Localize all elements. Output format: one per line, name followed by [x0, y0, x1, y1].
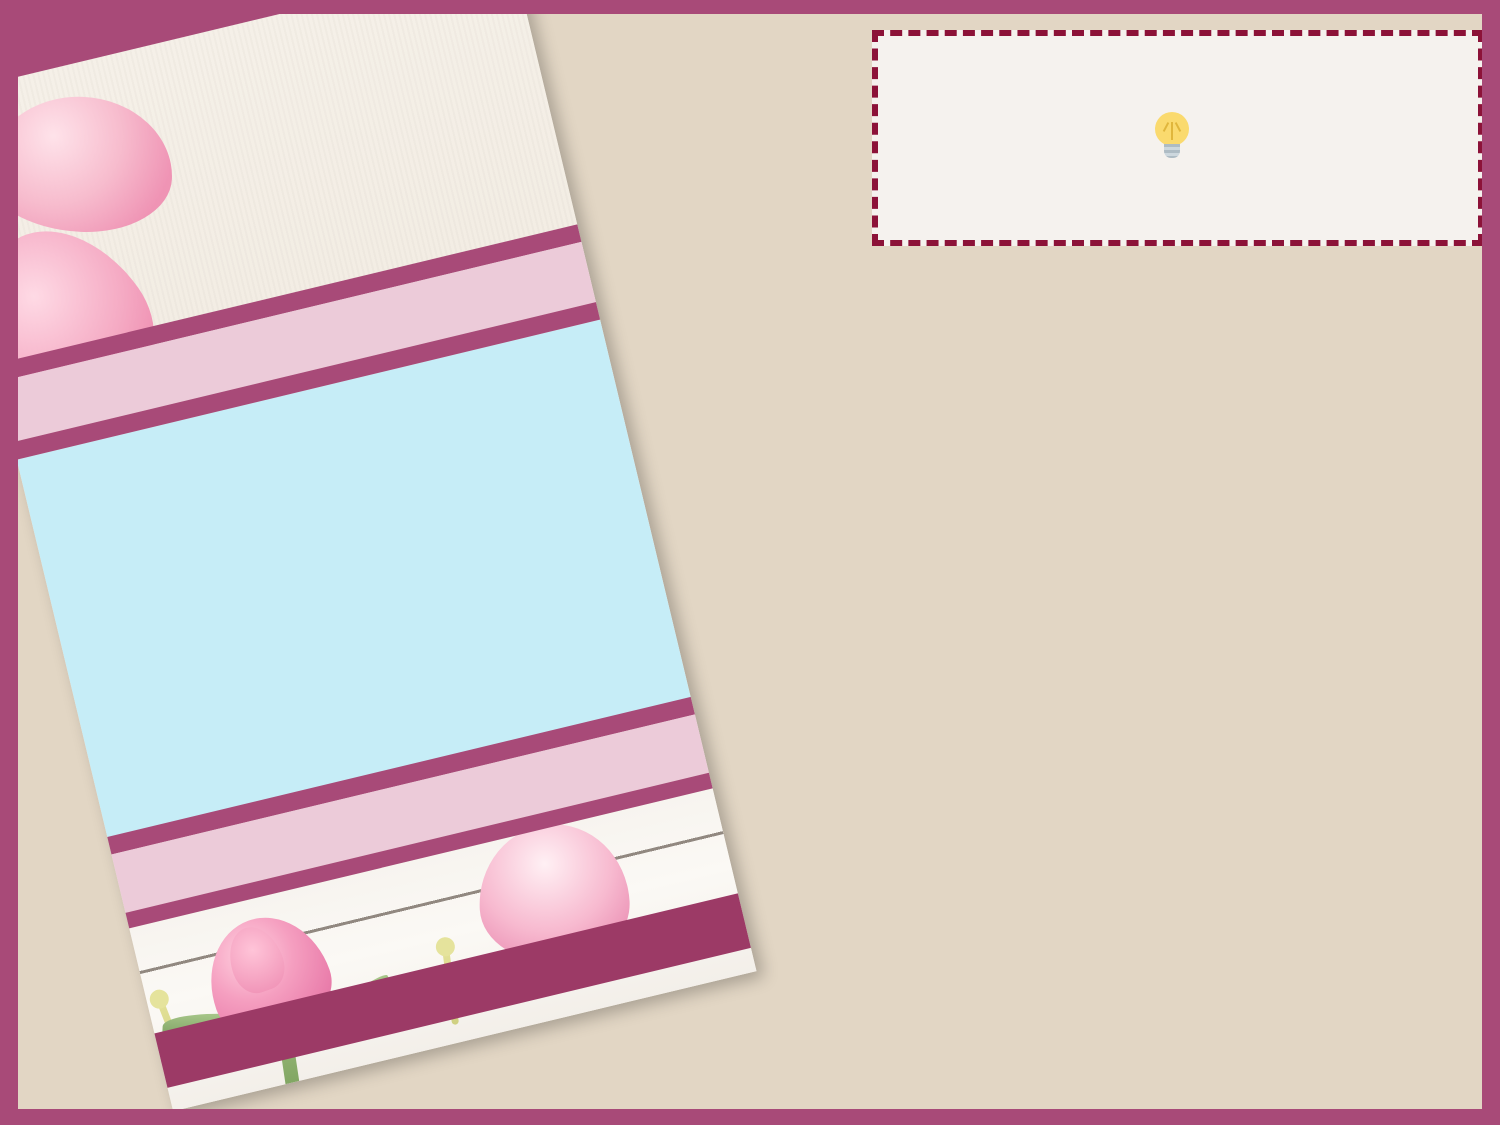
lightbulb-icon: [1155, 112, 1189, 158]
day-header-box: [872, 30, 1482, 246]
cover-title-echo: [18, 70, 552, 215]
day-heading-row: [1155, 112, 1201, 158]
workbook-mockup: [18, 14, 811, 1109]
message-panel: [856, 14, 1482, 1109]
poster-frame: [0, 0, 1500, 1125]
poster-canvas: [18, 14, 1482, 1109]
